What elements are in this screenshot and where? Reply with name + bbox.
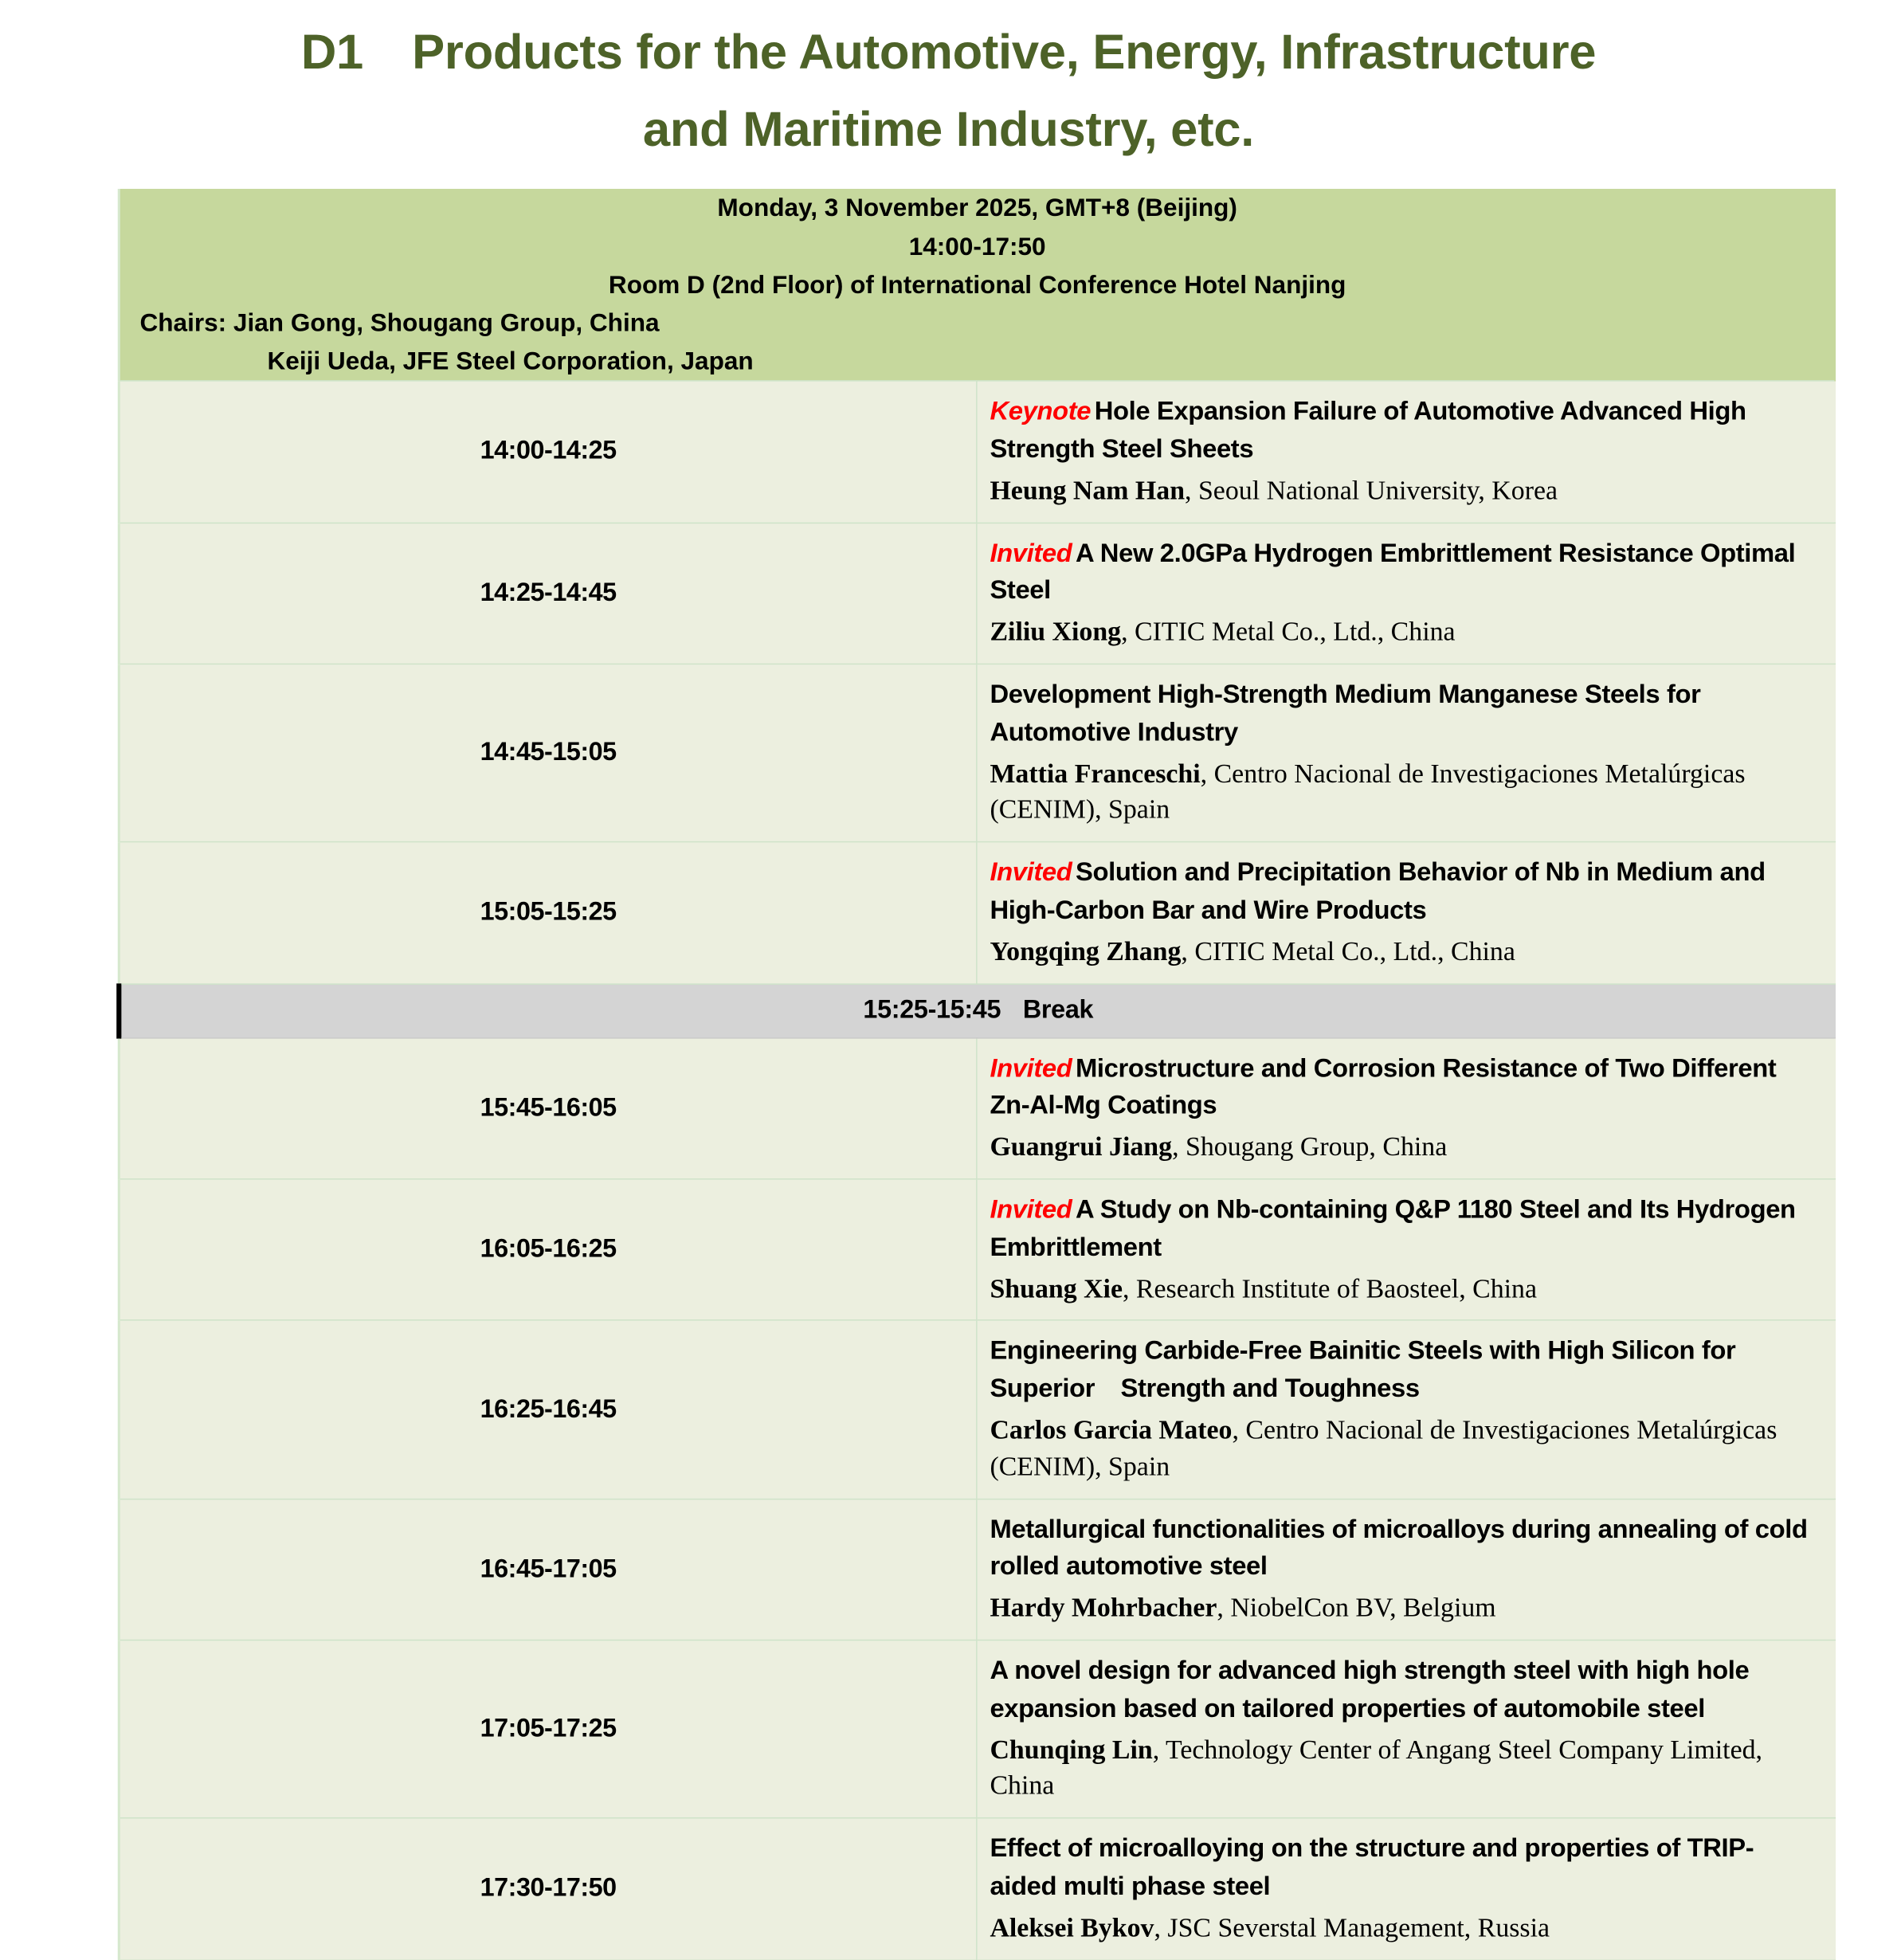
session-content: Effect of microalloying on the structure… xyxy=(977,1818,1835,1960)
speaker-line: Guangrui Jiang, Shougang Group, China xyxy=(990,1129,1812,1166)
speaker-name: Chunqing Lin xyxy=(990,1734,1152,1764)
speaker-line: Aleksei Bykov, JSC Severstal Management,… xyxy=(990,1909,1812,1946)
session-time: 17:05-17:25 xyxy=(119,1641,977,1818)
talk-title: Development High-Strength Medium Mangane… xyxy=(990,676,1812,751)
table-row: 17:30-17:50Effect of microalloying on th… xyxy=(119,1818,1835,1960)
session-time: 14:25-14:45 xyxy=(119,523,977,664)
session-content: InvitedSolution and Precipitation Behavi… xyxy=(977,842,1835,984)
session-content: InvitedA Study on Nb-containing Q&P 1180… xyxy=(977,1179,1835,1321)
talk-title-text: A novel design for advanced high strengt… xyxy=(990,1656,1749,1723)
speaker-affiliation: , NiobelCon BV, Belgium xyxy=(1217,1592,1495,1622)
session-info-banner: Monday, 3 November 2025, GMT+8 (Beijing)… xyxy=(119,190,1835,382)
session-time: 15:05-15:25 xyxy=(119,842,977,984)
speaker-line: Carlos Garcia Mateo, Centro Nacional de … xyxy=(990,1412,1812,1484)
session-chair-1: Chairs: Jian Gong, Shougang Group, China xyxy=(120,304,1835,342)
talk-title: InvitedA New 2.0GPa Hydrogen Embrittleme… xyxy=(990,534,1812,610)
talk-title: Effect of microalloying on the structure… xyxy=(990,1830,1812,1906)
session-content: Engineering Carbide-Free Bainitic Steels… xyxy=(977,1321,1835,1499)
table-row: 16:05-16:25InvitedA Study on Nb-containi… xyxy=(119,1179,1835,1321)
session-date: Monday, 3 November 2025, GMT+8 (Beijing) xyxy=(120,190,1835,228)
session-content: KeynoteHole Expansion Failure of Automot… xyxy=(977,381,1835,523)
talk-title-text: Hole Expansion Failure of Automotive Adv… xyxy=(990,396,1746,463)
talk-title: KeynoteHole Expansion Failure of Automot… xyxy=(990,393,1812,468)
speaker-name: Mattia Franceschi xyxy=(990,758,1200,788)
speaker-name: Carlos Garcia Mateo xyxy=(990,1414,1232,1445)
table-row: 15:05-15:25InvitedSolution and Precipita… xyxy=(119,842,1835,984)
table-row: 17:05-17:25A novel design for advanced h… xyxy=(119,1641,1835,1818)
talk-title-text: Development High-Strength Medium Mangane… xyxy=(990,680,1700,747)
session-time: 16:25-16:45 xyxy=(119,1321,977,1499)
speaker-affiliation: , Research Institute of Baosteel, China xyxy=(1123,1272,1537,1303)
talk-title-text: Effect of microalloying on the structure… xyxy=(990,1833,1754,1900)
session-time-range: 14:00-17:50 xyxy=(120,228,1835,266)
table-row: 14:45-15:05Development High-Strength Med… xyxy=(119,664,1835,841)
speaker-line: Shuang Xie, Research Institute of Baoste… xyxy=(990,1270,1812,1307)
table-row: 15:45-16:05InvitedMicrostructure and Cor… xyxy=(119,1037,1835,1179)
session-time: 16:45-17:05 xyxy=(119,1499,977,1641)
speaker-line: Yongqing Zhang, CITIC Metal Co., Ltd., C… xyxy=(990,933,1812,970)
talk-title: Engineering Carbide-Free Bainitic Steels… xyxy=(990,1332,1812,1408)
speaker-affiliation: , Seoul National University, Korea xyxy=(1185,474,1558,504)
page-root: D1 Products for the Automotive, Energy, … xyxy=(0,0,1897,1960)
table-row: 14:00-14:25KeynoteHole Expansion Failure… xyxy=(119,381,1835,523)
speaker-name: Aleksei Bykov xyxy=(990,1911,1154,1942)
speaker-line: Mattia Franceschi, Centro Nacional de In… xyxy=(990,755,1812,828)
talk-title: A novel design for advanced high strengt… xyxy=(990,1652,1812,1727)
talk-title-text: Engineering Carbide-Free Bainitic Steels… xyxy=(990,1336,1735,1403)
session-time: 14:00-14:25 xyxy=(119,381,977,523)
speaker-name: Ziliu Xiong xyxy=(990,616,1121,646)
talk-type-badge: Invited xyxy=(990,857,1072,887)
session-content: Metallurgical functionalities of microal… xyxy=(977,1499,1835,1641)
speaker-name: Hardy Mohrbacher xyxy=(990,1592,1217,1622)
session-room: Room D (2nd Floor) of International Conf… xyxy=(120,266,1835,304)
break-label: Break xyxy=(1023,995,1093,1023)
talk-type-badge: Invited xyxy=(990,1194,1072,1224)
speaker-line: Chunqing Lin, Technology Center of Angan… xyxy=(990,1731,1812,1804)
talk-title: Metallurgical functionalities of microal… xyxy=(990,1511,1812,1586)
speaker-affiliation: , CITIC Metal Co., Ltd., China xyxy=(1121,616,1455,646)
session-content: InvitedMicrostructure and Corrosion Resi… xyxy=(977,1037,1835,1179)
talk-type-badge: Keynote xyxy=(990,396,1091,425)
talk-title-text: Solution and Precipitation Behavior of N… xyxy=(990,857,1765,924)
session-time: 17:30-17:50 xyxy=(119,1818,977,1960)
break-cell: 15:25-15:45Break xyxy=(119,984,1835,1038)
speaker-affiliation: , JSC Severstal Management, Russia xyxy=(1154,1911,1550,1942)
speaker-name: Yongqing Zhang xyxy=(990,935,1181,966)
talk-title-text: Microstructure and Corrosion Resistance … xyxy=(990,1053,1776,1119)
session-time: 14:45-15:05 xyxy=(119,664,977,841)
table-row: 16:45-17:05Metallurgical functionalities… xyxy=(119,1499,1835,1641)
schedule-header-row: Monday, 3 November 2025, GMT+8 (Beijing)… xyxy=(119,190,1835,382)
speaker-name: Heung Nam Han xyxy=(990,474,1185,504)
talk-title-text: Metallurgical functionalities of microal… xyxy=(990,1514,1807,1581)
talk-type-badge: Invited xyxy=(990,1053,1072,1082)
speaker-line: Heung Nam Han, Seoul National University… xyxy=(990,472,1812,508)
speaker-line: Ziliu Xiong, CITIC Metal Co., Ltd., Chin… xyxy=(990,613,1812,650)
speaker-name: Guangrui Jiang xyxy=(990,1131,1172,1162)
talk-type-badge: Invited xyxy=(990,538,1072,567)
session-content: A novel design for advanced high strengt… xyxy=(977,1641,1835,1818)
talk-title-text: A Study on Nb-containing Q&P 1180 Steel … xyxy=(990,1194,1795,1261)
session-schedule-table: Monday, 3 November 2025, GMT+8 (Beijing)… xyxy=(116,190,1836,1960)
speaker-affiliation: , CITIC Metal Co., Ltd., China xyxy=(1181,935,1515,966)
session-time: 15:45-16:05 xyxy=(119,1037,977,1179)
table-row: 16:25-16:45Engineering Carbide-Free Bain… xyxy=(119,1321,1835,1499)
page-title: D1 Products for the Automotive, Energy, … xyxy=(0,0,1897,179)
talk-title-text: A New 2.0GPa Hydrogen Embrittlement Resi… xyxy=(990,538,1795,605)
speaker-affiliation: , Shougang Group, China xyxy=(1172,1131,1447,1162)
speaker-name: Shuang Xie xyxy=(990,1272,1123,1303)
session-content: InvitedA New 2.0GPa Hydrogen Embrittleme… xyxy=(977,523,1835,664)
session-time: 16:05-16:25 xyxy=(119,1179,977,1321)
session-chair-2: Keiji Ueda, JFE Steel Corporation, Japan xyxy=(120,342,1835,380)
speaker-line: Hardy Mohrbacher, NiobelCon BV, Belgium xyxy=(990,1590,1812,1626)
break-time: 15:25-15:45 xyxy=(863,995,1001,1023)
schedule-body: Monday, 3 November 2025, GMT+8 (Beijing)… xyxy=(119,190,1835,1960)
talk-title: InvitedMicrostructure and Corrosion Resi… xyxy=(990,1049,1812,1125)
table-row: 14:25-14:45InvitedA New 2.0GPa Hydrogen … xyxy=(119,523,1835,664)
talk-title: InvitedA Study on Nb-containing Q&P 1180… xyxy=(990,1191,1812,1267)
session-content: Development High-Strength Medium Mangane… xyxy=(977,664,1835,841)
break-row: 15:25-15:45Break xyxy=(119,984,1835,1038)
talk-title: InvitedSolution and Precipitation Behavi… xyxy=(990,853,1812,929)
